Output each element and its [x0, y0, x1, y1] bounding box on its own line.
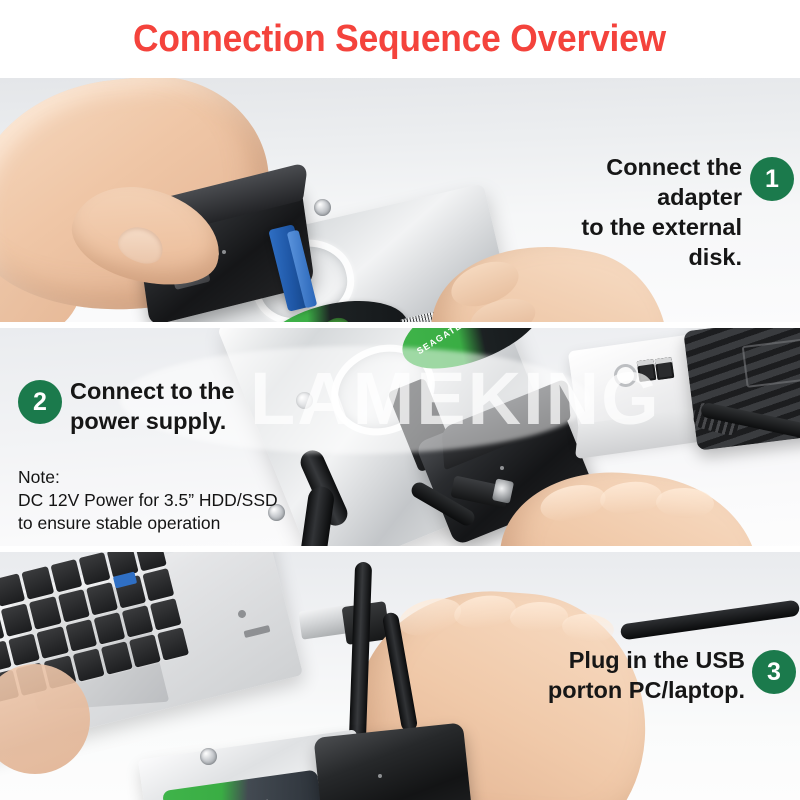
step-3-caption: Plug in the USB porton PC/laptop.: [540, 645, 745, 705]
usb-port: [637, 359, 657, 382]
title-bar: Connection Sequence Overview: [0, 0, 800, 78]
key: [142, 568, 174, 601]
seagate-brand-text: SEAGATE: [415, 328, 464, 356]
key: [0, 573, 25, 606]
key: [129, 635, 161, 668]
key: [57, 589, 89, 622]
infographic-page: Connection Sequence Overview SEAGATE BAR…: [0, 0, 800, 800]
adapter-led-dot: [222, 250, 226, 254]
key: [101, 642, 133, 675]
usb-port: [655, 357, 675, 380]
hard-drive-screw: [314, 199, 331, 216]
step-2-caption: Connect to the power supply.: [70, 376, 310, 436]
step-1-number-badge: 1: [750, 157, 794, 201]
step-1-caption: Connect the adapter to the external disk…: [522, 152, 742, 272]
step-3-number-badge: 3: [752, 650, 796, 694]
key: [86, 582, 118, 615]
key: [37, 626, 69, 659]
key: [78, 552, 110, 585]
key: [93, 612, 125, 645]
key: [8, 633, 40, 666]
key: [157, 627, 189, 660]
key: [1, 603, 33, 636]
key: [50, 559, 82, 592]
key: [150, 598, 182, 631]
adapter-led-dot: [500, 466, 504, 470]
barracuda-fish-icon: [314, 313, 358, 322]
power-brick-label-panel: [742, 338, 800, 388]
hard-drive-screw: [200, 748, 217, 765]
page-title: Connection Sequence Overview: [134, 18, 667, 61]
key: [121, 605, 153, 638]
adapter-led-dot: [378, 774, 382, 778]
key: [65, 619, 97, 652]
step-2-number-badge: 2: [18, 380, 62, 424]
key: [29, 596, 61, 629]
key: [22, 566, 54, 599]
power-note-text: Note: DC 12V Power for 3.5” HDD/SSD to e…: [18, 466, 278, 535]
key: [72, 649, 104, 682]
